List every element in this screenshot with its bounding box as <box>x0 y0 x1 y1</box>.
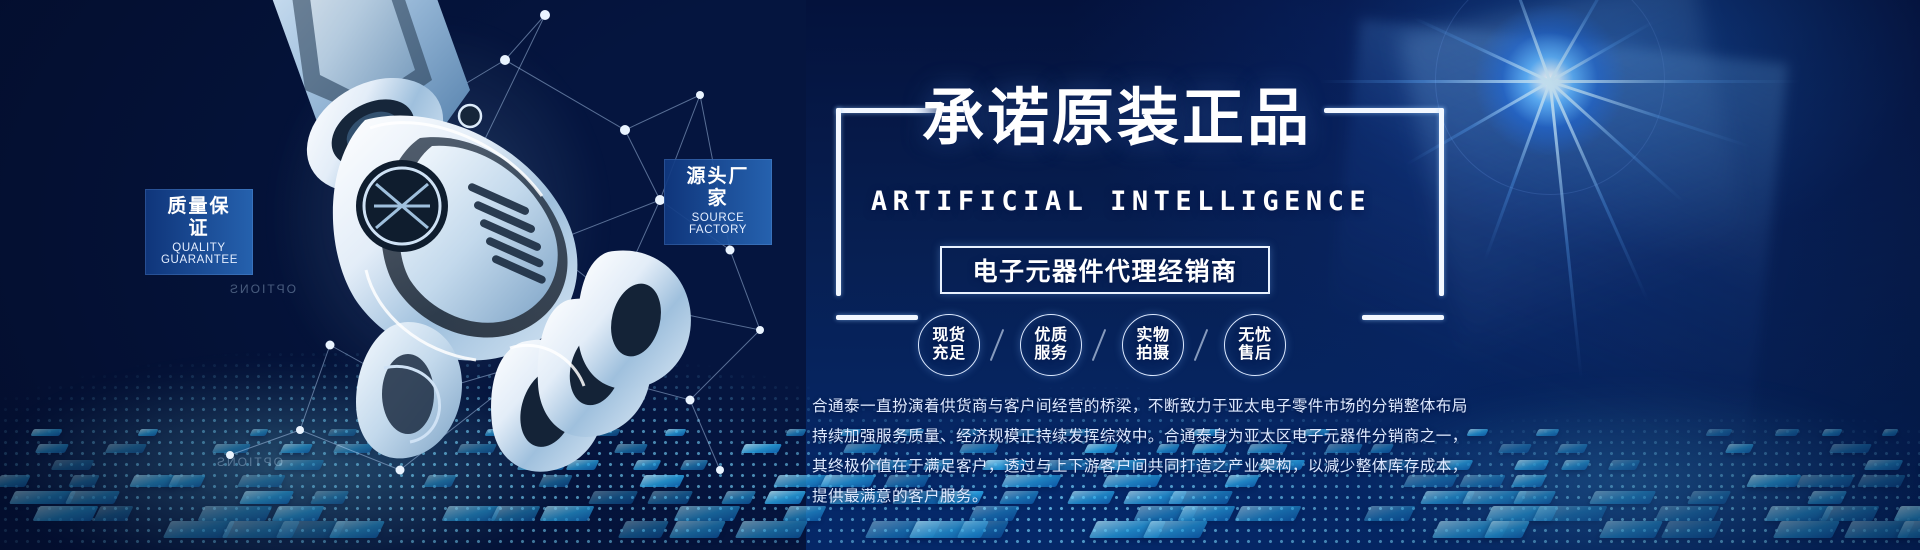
feature-line-1: 无忧 <box>1238 327 1271 345</box>
badge-quality-en: QUALITY GUARANTEE <box>161 242 237 266</box>
description-line: 合通泰一直扮演着供货商与客户间经营的桥梁，不断致力于亚太电子零件市场的分销整体布… <box>812 392 1472 422</box>
feature-line-2: 售后 <box>1238 345 1271 363</box>
robot-hand-illustration <box>170 0 730 530</box>
badge-source-factory: 源头厂家 SOURCE FACTORY <box>664 159 772 245</box>
feature-circle[interactable]: 无忧售后 <box>1224 314 1286 376</box>
feature-line-1: 优质 <box>1034 327 1067 345</box>
watermark-text: OPTIONS <box>228 282 296 296</box>
feature-line-2: 充足 <box>932 345 965 363</box>
feature-separator-slash <box>1184 328 1224 362</box>
feature-separator-slash <box>980 328 1020 362</box>
feature-line-2: 拍摄 <box>1136 345 1169 363</box>
description-line: 持续加强服务质量、经济规模正持续发挥综效中。合通泰身为亚太区电子元器件分销商之一… <box>812 422 1472 452</box>
description-paragraph: 合通泰一直扮演着供货商与客户间经营的桥梁，不断致力于亚太电子零件市场的分销整体布… <box>812 392 1472 512</box>
feature-line-1: 实物 <box>1136 327 1169 345</box>
feature-circle[interactable]: 优质服务 <box>1020 314 1082 376</box>
feature-circle[interactable]: 实物拍摄 <box>1122 314 1184 376</box>
description-line: 其终极价值在于满足客户，透过与上下游客户间共同打造之产业架构，以减少整体库存成本… <box>812 452 1472 482</box>
feature-separator-slash <box>1082 328 1122 362</box>
banner-content: 承诺原装正品 ARTIFICIAL INTELLIGENCE 电子元器件代理经销… <box>800 74 1800 514</box>
subtitle-box: 电子元器件代理经销商 <box>940 246 1270 294</box>
badge-source-cn: 源头厂家 <box>680 166 756 210</box>
watermark-text-2: OPTIONS <box>215 455 283 469</box>
badge-quality-guarantee: 质量保证 QUALITY GUARANTEE <box>145 189 253 275</box>
badge-source-en: SOURCE FACTORY <box>680 212 756 236</box>
feature-line-2: 服务 <box>1034 345 1067 363</box>
promo-banner: 质量保证 QUALITY GUARANTEE 源头厂家 SOURCE FACTO… <box>0 0 1920 550</box>
headline-english: ARTIFICIAL INTELLIGENCE <box>856 186 1386 217</box>
badge-quality-cn: 质量保证 <box>161 196 237 240</box>
headline-chinese: 承诺原装正品 <box>922 88 1312 150</box>
subtitle-text: 电子元器件代理经销商 <box>972 252 1237 288</box>
feature-circle[interactable]: 现货充足 <box>918 314 980 376</box>
feature-circle-list: 现货充足优质服务实物拍摄无忧售后 <box>918 308 1478 382</box>
feature-line-1: 现货 <box>932 327 965 345</box>
description-line: 提供最满意的客户服务。 <box>812 482 1472 512</box>
